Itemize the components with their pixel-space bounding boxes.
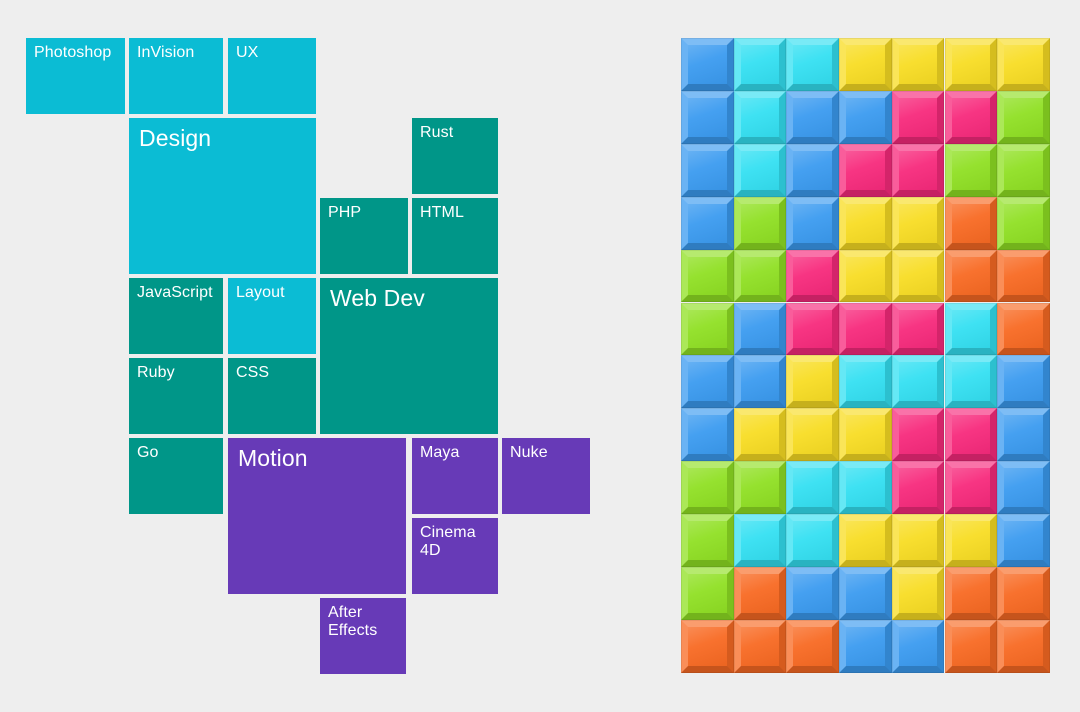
mosaic-cell[interactable] bbox=[681, 197, 734, 250]
treemap-tile-label: Web Dev bbox=[320, 278, 498, 311]
treemap-tile[interactable]: InVision bbox=[129, 38, 223, 114]
mosaic-cell-seam bbox=[734, 91, 787, 144]
visualization-stage: PhotoshopInVisionUXDesignRustPHPHTMLJava… bbox=[0, 0, 1080, 712]
mosaic-cell-seam bbox=[839, 461, 892, 514]
mosaic-cell[interactable] bbox=[945, 303, 998, 356]
mosaic-cell-seam bbox=[892, 408, 945, 461]
mosaic-cell[interactable] bbox=[892, 91, 945, 144]
mosaic-cell-seam bbox=[839, 620, 892, 673]
mosaic-cell-seam bbox=[892, 303, 945, 356]
mosaic-cell[interactable] bbox=[786, 91, 839, 144]
mosaic-cell-seam bbox=[786, 303, 839, 356]
mosaic-cell-seam bbox=[734, 38, 787, 91]
mosaic-cell[interactable] bbox=[786, 408, 839, 461]
treemap-tile-label: Design bbox=[129, 118, 316, 151]
mosaic-cell-seam bbox=[945, 355, 998, 408]
mosaic-cell-seam bbox=[786, 620, 839, 673]
mosaic-cell-seam bbox=[945, 91, 998, 144]
mosaic-cell-seam bbox=[786, 567, 839, 620]
color-mosaic bbox=[681, 38, 1050, 673]
mosaic-cell[interactable] bbox=[734, 250, 787, 303]
mosaic-cell[interactable] bbox=[786, 355, 839, 408]
mosaic-cell[interactable] bbox=[945, 38, 998, 91]
mosaic-cell[interactable] bbox=[786, 567, 839, 620]
mosaic-cell[interactable] bbox=[997, 461, 1050, 514]
mosaic-cell-seam bbox=[681, 250, 734, 303]
mosaic-cell[interactable] bbox=[997, 250, 1050, 303]
mosaic-cell-seam bbox=[839, 197, 892, 250]
mosaic-cell[interactable] bbox=[892, 197, 945, 250]
mosaic-cell-seam bbox=[892, 567, 945, 620]
mosaic-cell[interactable] bbox=[734, 620, 787, 673]
treemap-tile-label: InVision bbox=[129, 38, 223, 62]
mosaic-cell[interactable] bbox=[734, 461, 787, 514]
mosaic-cell[interactable] bbox=[997, 303, 1050, 356]
mosaic-cell-seam bbox=[839, 303, 892, 356]
mosaic-cell[interactable] bbox=[945, 408, 998, 461]
mosaic-cell[interactable] bbox=[997, 620, 1050, 673]
mosaic-cell-seam bbox=[681, 567, 734, 620]
treemap-tile[interactable]: CSS bbox=[228, 358, 316, 434]
mosaic-cell-seam bbox=[786, 91, 839, 144]
mosaic-cell-seam bbox=[734, 620, 787, 673]
mosaic-cell[interactable] bbox=[892, 567, 945, 620]
treemap-tile[interactable]: UX bbox=[228, 38, 316, 114]
treemap-tile[interactable]: JavaScript bbox=[129, 278, 223, 354]
mosaic-cell-seam bbox=[734, 567, 787, 620]
mosaic-cell-seam bbox=[681, 197, 734, 250]
mosaic-cell-seam bbox=[786, 514, 839, 567]
mosaic-cell[interactable] bbox=[839, 355, 892, 408]
mosaic-cell-seam bbox=[839, 250, 892, 303]
mosaic-cell-seam bbox=[839, 38, 892, 91]
mosaic-cell[interactable] bbox=[786, 461, 839, 514]
mosaic-cell-seam bbox=[734, 408, 787, 461]
mosaic-cell-seam bbox=[734, 250, 787, 303]
mosaic-cell-seam bbox=[892, 514, 945, 567]
mosaic-cell[interactable] bbox=[681, 461, 734, 514]
mosaic-cell[interactable] bbox=[945, 250, 998, 303]
mosaic-cell-seam bbox=[892, 461, 945, 514]
mosaic-cell-seam bbox=[786, 38, 839, 91]
treemap-tile-label: HTML bbox=[412, 198, 498, 222]
mosaic-cell[interactable] bbox=[892, 250, 945, 303]
mosaic-cell[interactable] bbox=[681, 144, 734, 197]
mosaic-cell-seam bbox=[945, 144, 998, 197]
mosaic-cell[interactable] bbox=[839, 250, 892, 303]
mosaic-cell[interactable] bbox=[839, 91, 892, 144]
mosaic-cell[interactable] bbox=[786, 303, 839, 356]
mosaic-cell[interactable] bbox=[839, 461, 892, 514]
mosaic-cell-seam bbox=[681, 144, 734, 197]
mosaic-cell[interactable] bbox=[734, 197, 787, 250]
treemap-tile-label: PHP bbox=[320, 198, 408, 222]
mosaic-cell[interactable] bbox=[681, 250, 734, 303]
mosaic-cell[interactable] bbox=[945, 567, 998, 620]
mosaic-cell-seam bbox=[892, 250, 945, 303]
mosaic-cell-seam bbox=[945, 38, 998, 91]
mosaic-cell[interactable] bbox=[681, 514, 734, 567]
mosaic-cell-seam bbox=[945, 303, 998, 356]
mosaic-cell-seam bbox=[734, 303, 787, 356]
treemap-tile-label: Motion bbox=[228, 438, 406, 471]
mosaic-cell[interactable] bbox=[681, 408, 734, 461]
mosaic-cell[interactable] bbox=[945, 514, 998, 567]
treemap-tile[interactable]: Photoshop bbox=[26, 38, 125, 114]
mosaic-cell[interactable] bbox=[734, 355, 787, 408]
mosaic-cell-seam bbox=[997, 250, 1050, 303]
mosaic-cell[interactable] bbox=[892, 144, 945, 197]
mosaic-cell[interactable] bbox=[681, 303, 734, 356]
mosaic-cell-seam bbox=[892, 355, 945, 408]
treemap-tile[interactable]: Go bbox=[129, 438, 223, 514]
mosaic-cell[interactable] bbox=[734, 514, 787, 567]
mosaic-cell-seam bbox=[839, 567, 892, 620]
mosaic-cell[interactable] bbox=[734, 303, 787, 356]
treemap-tile[interactable]: HTML bbox=[412, 198, 498, 274]
mosaic-cell[interactable] bbox=[839, 514, 892, 567]
mosaic-cell[interactable] bbox=[786, 250, 839, 303]
mosaic-cell[interactable] bbox=[945, 144, 998, 197]
mosaic-cell[interactable] bbox=[734, 567, 787, 620]
mosaic-cell-seam bbox=[997, 197, 1050, 250]
mosaic-cell[interactable] bbox=[681, 355, 734, 408]
mosaic-cell-seam bbox=[945, 620, 998, 673]
treemap-tile-label: Nuke bbox=[502, 438, 590, 462]
mosaic-cell[interactable] bbox=[997, 514, 1050, 567]
mosaic-cell-seam bbox=[997, 303, 1050, 356]
mosaic-cell-seam bbox=[734, 514, 787, 567]
mosaic-cell[interactable] bbox=[892, 514, 945, 567]
mosaic-cell[interactable] bbox=[997, 197, 1050, 250]
mosaic-cell-seam bbox=[997, 620, 1050, 673]
mosaic-cell[interactable] bbox=[945, 91, 998, 144]
mosaic-cell-seam bbox=[681, 408, 734, 461]
mosaic-cell-seam bbox=[681, 91, 734, 144]
treemap-tile[interactable]: Layout bbox=[228, 278, 316, 354]
mosaic-cell[interactable] bbox=[945, 620, 998, 673]
mosaic-cell[interactable] bbox=[892, 461, 945, 514]
mosaic-cell[interactable] bbox=[786, 38, 839, 91]
treemap-tile[interactable]: Rust bbox=[412, 118, 498, 194]
mosaic-cell[interactable] bbox=[681, 38, 734, 91]
mosaic-cell-seam bbox=[997, 144, 1050, 197]
treemap-tile[interactable]: Nuke bbox=[502, 438, 590, 514]
mosaic-cell-seam bbox=[681, 620, 734, 673]
mosaic-cell[interactable] bbox=[892, 355, 945, 408]
mosaic-cell[interactable] bbox=[945, 355, 998, 408]
mosaic-cell-seam bbox=[892, 144, 945, 197]
mosaic-cell[interactable] bbox=[681, 91, 734, 144]
treemap-tile[interactable]: Cinema 4D bbox=[412, 518, 498, 594]
mosaic-cell-seam bbox=[734, 197, 787, 250]
mosaic-cell[interactable] bbox=[839, 38, 892, 91]
mosaic-cell-seam bbox=[997, 355, 1050, 408]
mosaic-cell-seam bbox=[786, 144, 839, 197]
mosaic-cell[interactable] bbox=[786, 144, 839, 197]
mosaic-cell[interactable] bbox=[734, 144, 787, 197]
mosaic-cell[interactable] bbox=[997, 355, 1050, 408]
treemap-tile-label: Photoshop bbox=[26, 38, 125, 62]
mosaic-cell-seam bbox=[892, 620, 945, 673]
mosaic-cell[interactable] bbox=[786, 620, 839, 673]
treemap-tile[interactable]: PHP bbox=[320, 198, 408, 274]
mosaic-cell-seam bbox=[681, 355, 734, 408]
mosaic-cell-seam bbox=[786, 197, 839, 250]
mosaic-cell-seam bbox=[734, 355, 787, 408]
mosaic-cell[interactable] bbox=[839, 408, 892, 461]
mosaic-cell[interactable] bbox=[892, 620, 945, 673]
mosaic-cell-seam bbox=[786, 250, 839, 303]
mosaic-cell-seam bbox=[681, 461, 734, 514]
treemap-tile[interactable]: Design bbox=[129, 118, 316, 274]
mosaic-cell-seam bbox=[734, 144, 787, 197]
treemap-tile-label: Maya bbox=[412, 438, 498, 462]
mosaic-cell-seam bbox=[892, 91, 945, 144]
treemap-tile-label: After Effects bbox=[320, 598, 406, 640]
mosaic-cell[interactable] bbox=[997, 567, 1050, 620]
mosaic-cell-seam bbox=[892, 197, 945, 250]
mosaic-cell[interactable] bbox=[681, 620, 734, 673]
mosaic-cell[interactable] bbox=[734, 38, 787, 91]
mosaic-cell-seam bbox=[681, 38, 734, 91]
mosaic-cell[interactable] bbox=[839, 567, 892, 620]
mosaic-cell[interactable] bbox=[734, 91, 787, 144]
mosaic-cell[interactable] bbox=[839, 620, 892, 673]
mosaic-cell-seam bbox=[839, 408, 892, 461]
skills-treemap: PhotoshopInVisionUXDesignRustPHPHTMLJava… bbox=[0, 0, 640, 712]
treemap-tile-label: Go bbox=[129, 438, 223, 462]
mosaic-cell-seam bbox=[945, 514, 998, 567]
treemap-tile-label: Cinema 4D bbox=[412, 518, 498, 560]
mosaic-cell-seam bbox=[839, 91, 892, 144]
mosaic-cell-seam bbox=[681, 303, 734, 356]
mosaic-cell-seam bbox=[945, 408, 998, 461]
mosaic-cell[interactable] bbox=[945, 461, 998, 514]
mosaic-cell[interactable] bbox=[945, 197, 998, 250]
treemap-tile-label: Ruby bbox=[129, 358, 223, 382]
mosaic-cell[interactable] bbox=[997, 408, 1050, 461]
mosaic-cell[interactable] bbox=[892, 408, 945, 461]
mosaic-cell-seam bbox=[945, 197, 998, 250]
mosaic-cell-seam bbox=[997, 514, 1050, 567]
mosaic-cell[interactable] bbox=[681, 567, 734, 620]
mosaic-cell-seam bbox=[945, 567, 998, 620]
mosaic-cell-seam bbox=[997, 408, 1050, 461]
mosaic-cell-seam bbox=[997, 567, 1050, 620]
mosaic-cell[interactable] bbox=[892, 38, 945, 91]
mosaic-cell[interactable] bbox=[786, 197, 839, 250]
mosaic-cell-seam bbox=[786, 461, 839, 514]
treemap-tile-label: Layout bbox=[228, 278, 316, 302]
mosaic-cell-seam bbox=[734, 461, 787, 514]
treemap-tile[interactable]: Web Dev bbox=[320, 278, 498, 434]
mosaic-cell[interactable] bbox=[997, 38, 1050, 91]
treemap-tile[interactable]: Ruby bbox=[129, 358, 223, 434]
mosaic-cell-seam bbox=[945, 250, 998, 303]
mosaic-cell-seam bbox=[839, 355, 892, 408]
mosaic-cell[interactable] bbox=[997, 144, 1050, 197]
treemap-tile-label: CSS bbox=[228, 358, 316, 382]
treemap-tile[interactable]: Motion bbox=[228, 438, 406, 594]
mosaic-cell[interactable] bbox=[839, 144, 892, 197]
mosaic-cell-seam bbox=[997, 461, 1050, 514]
mosaic-cell-seam bbox=[892, 38, 945, 91]
mosaic-cell[interactable] bbox=[892, 303, 945, 356]
mosaic-cell-seam bbox=[997, 38, 1050, 91]
mosaic-cell-seam bbox=[997, 91, 1050, 144]
mosaic-cell-seam bbox=[786, 355, 839, 408]
mosaic-cell-seam bbox=[786, 408, 839, 461]
mosaic-cell[interactable] bbox=[997, 91, 1050, 144]
treemap-tile-label: JavaScript bbox=[129, 278, 223, 302]
mosaic-cell[interactable] bbox=[839, 197, 892, 250]
mosaic-cell[interactable] bbox=[786, 514, 839, 567]
mosaic-cell-seam bbox=[945, 461, 998, 514]
treemap-tile[interactable]: Maya bbox=[412, 438, 498, 514]
mosaic-cell[interactable] bbox=[839, 303, 892, 356]
mosaic-cell-seam bbox=[681, 514, 734, 567]
treemap-tile-label: Rust bbox=[412, 118, 498, 142]
treemap-tile-label: UX bbox=[228, 38, 316, 62]
treemap-tile[interactable]: After Effects bbox=[320, 598, 406, 674]
mosaic-cell-seam bbox=[839, 514, 892, 567]
mosaic-cell[interactable] bbox=[734, 408, 787, 461]
mosaic-cell-seam bbox=[839, 144, 892, 197]
